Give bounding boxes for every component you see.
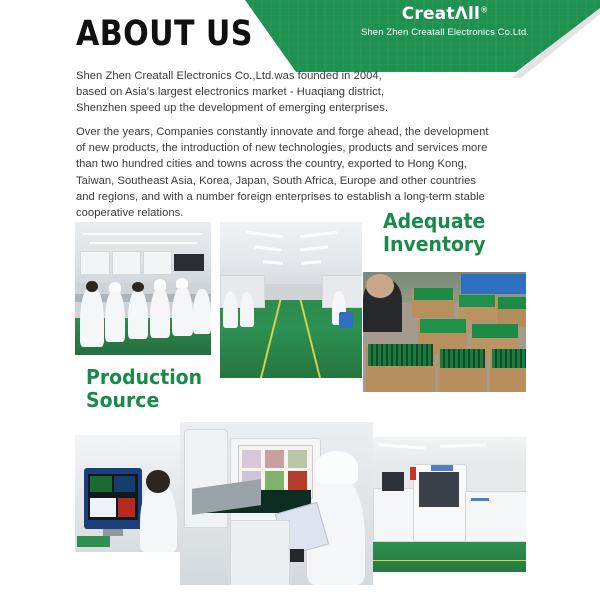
photo-screen-panel	[114, 476, 136, 492]
photo-machine-label	[471, 498, 489, 502]
photo-worker	[240, 292, 254, 326]
photo-smt-production-machine	[373, 437, 526, 572]
photo-aoi-machine-body	[184, 429, 228, 529]
caption-production-source: Production Source	[86, 366, 202, 412]
photo-worker	[80, 286, 103, 347]
photo-pcb-stack	[498, 297, 526, 309]
photo-screen-pcb-view	[90, 476, 112, 492]
photo-pcb-row	[368, 344, 433, 366]
registered-trademark-icon: ®	[480, 5, 488, 14]
photo-pcb-stack	[472, 324, 518, 338]
photo-blue-bin	[339, 312, 353, 328]
photo-monitor-stand	[103, 529, 122, 536]
photo-ceiling	[373, 437, 526, 467]
photo-machine-label	[431, 465, 452, 470]
photo-factory-corridor	[220, 222, 362, 378]
photo-worker-cap	[154, 279, 166, 290]
photo-screen-panel	[90, 498, 116, 517]
photo-pcb-row	[492, 349, 526, 368]
brand-name: CreatΛll®	[402, 5, 489, 24]
brand-name-text: CreatΛll	[402, 4, 480, 24]
about-paragraph-1: Shen Zhen Creatall Electronics Co.,Ltd.w…	[76, 68, 406, 117]
photo-worker-cap	[315, 451, 357, 484]
photo-shelf-unit	[112, 251, 141, 274]
photo-aoi-inspection-operator	[180, 422, 373, 585]
brand-subtitle: Shen Zhen Creatall Electronics Co.Ltd.	[330, 27, 560, 38]
about-paragraph-2: Over the years, Companies constantly inn…	[76, 124, 496, 221]
photo-machine-monitor	[382, 472, 403, 491]
photo-worker	[150, 287, 170, 338]
photo-light-strip	[83, 233, 203, 236]
photo-machine-window	[419, 472, 459, 507]
photo-status-light	[410, 467, 416, 481]
photo-assembly-line-workers	[75, 222, 211, 355]
photo-screen-cell	[265, 471, 284, 492]
photo-light-strip	[89, 242, 198, 245]
photo-screen-cell	[242, 450, 261, 468]
photo-pcb-stack	[420, 319, 466, 333]
photo-pcb-stack	[459, 295, 495, 307]
photo-screen-cell	[288, 450, 307, 468]
brand-logo: CreatΛll® Shen Zhen Creatall Electronics…	[330, 5, 560, 38]
photo-shelf-unit	[143, 251, 172, 274]
page-header: ABOUT US CreatΛll® Shen Zhen Creatall El…	[0, 0, 600, 72]
photo-pcb-row	[440, 349, 486, 368]
photo-floor	[373, 540, 526, 572]
photo-shelf-unit	[80, 251, 109, 274]
caption-adequate-inventory: Adequate Inventory	[383, 210, 486, 256]
page-title: ABOUT US	[76, 17, 253, 52]
photo-floor-line	[373, 560, 526, 562]
photo-packing-boxes-pcb	[363, 272, 526, 392]
photo-machine-left	[373, 488, 415, 541]
photo-pcb-stack	[414, 288, 453, 300]
photo-testing-station-monitor	[75, 435, 183, 552]
photo-blue-bin	[461, 274, 526, 293]
photo-worker	[193, 289, 211, 334]
photo-screen-alert	[118, 498, 135, 517]
photo-pcb	[77, 536, 109, 548]
photo-worker-cap	[176, 278, 188, 289]
photo-worker-cap	[109, 282, 121, 293]
photo-screen-cell	[288, 471, 307, 492]
photo-monitor	[174, 254, 204, 271]
photo-machine-base	[230, 520, 290, 585]
photo-screen-cell	[265, 450, 284, 468]
